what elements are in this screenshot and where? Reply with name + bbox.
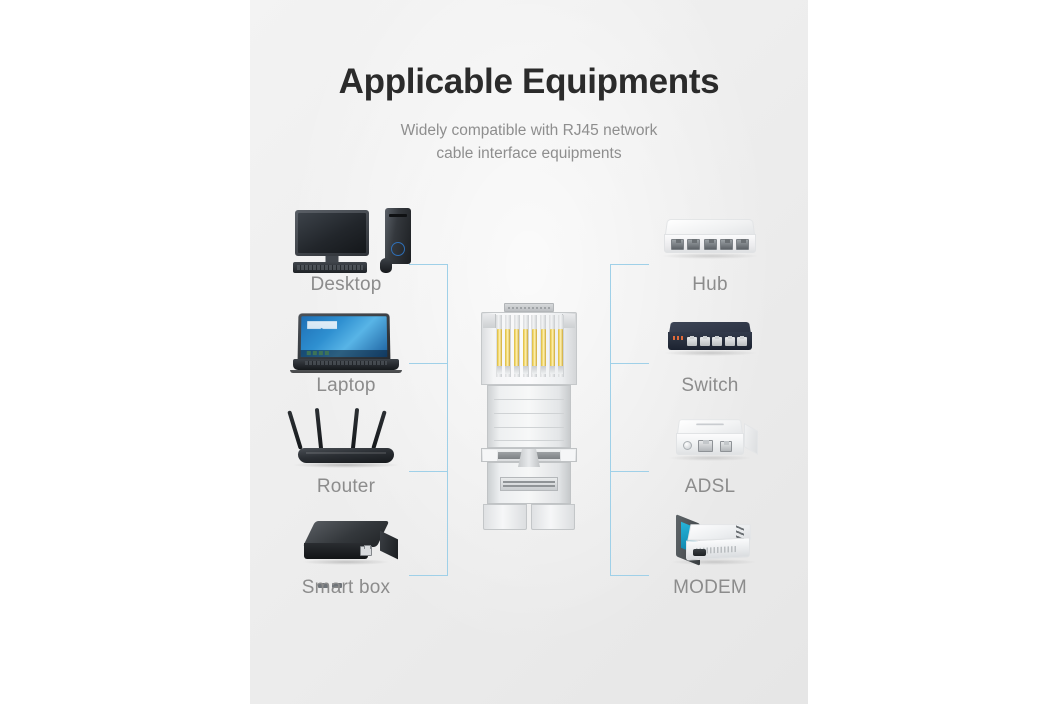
rj45-gold-pin xyxy=(531,315,537,377)
rj45-body-rib xyxy=(494,427,564,428)
rj45-gold-pin xyxy=(496,315,502,377)
monitor-icon xyxy=(295,210,369,256)
desktop-computer-icon xyxy=(261,206,431,274)
switch-front-face xyxy=(668,332,752,350)
hub-ethernet-port xyxy=(704,239,717,250)
wireless-router-icon xyxy=(261,408,431,476)
rj45-base-tabs xyxy=(483,504,575,530)
rj45-gold-pin-bay xyxy=(496,315,564,377)
equipment-item-hub: Hub xyxy=(625,206,795,307)
rj45-body-housing xyxy=(487,385,571,448)
rj45-gold-pin xyxy=(505,315,511,377)
rj45-base-tab xyxy=(483,504,527,530)
rj45-gold-pin xyxy=(523,315,529,377)
smartbox-front xyxy=(304,543,368,559)
router-body xyxy=(298,448,394,463)
rj45-base-tab xyxy=(531,504,575,530)
rj45-gold-pin xyxy=(549,315,555,377)
adsl-top-face xyxy=(677,419,743,434)
modem-connector-plug xyxy=(693,549,706,556)
right-equipment-column: Hub Switch xyxy=(625,206,795,610)
router-antenna xyxy=(371,410,387,449)
hub-ethernet-port xyxy=(671,239,684,250)
equipment-item-router: Router xyxy=(261,408,431,509)
bracket-spine xyxy=(447,264,448,576)
router-shadow xyxy=(292,462,400,468)
hub-ethernet-port xyxy=(736,239,749,250)
equipment-label-desktop: Desktop xyxy=(261,274,431,296)
switch-shadow xyxy=(663,350,757,356)
rj45-gold-pin xyxy=(558,315,564,377)
switch-ethernet-port xyxy=(712,337,722,346)
equipment-label-smart-box: Smart box xyxy=(261,577,431,599)
hub-top-face xyxy=(665,219,755,235)
smartbox-shadow xyxy=(302,559,390,565)
network-switch-icon xyxy=(625,307,795,375)
hub-port-row xyxy=(671,239,749,250)
equipment-item-modem: MODEM xyxy=(625,509,795,610)
subtitle-line-2: cable interface equipments xyxy=(250,142,808,165)
bracket-spine xyxy=(610,264,611,576)
rj45-clip-wing-left xyxy=(483,450,497,461)
hub-ethernet-port xyxy=(720,239,733,250)
router-antenna xyxy=(287,410,303,449)
switch-led-indicators xyxy=(673,336,684,340)
equipment-item-desktop: Desktop xyxy=(261,206,431,307)
rj45-connector-product xyxy=(481,303,577,531)
smart-tv-box-icon xyxy=(261,509,431,577)
equipment-label-hub: Hub xyxy=(625,274,795,296)
smartbox-ethernet-port xyxy=(360,546,372,556)
smartbox-side xyxy=(380,531,398,560)
laptop-lid xyxy=(298,313,391,361)
adsl-brand-mark xyxy=(696,424,724,426)
rj45-body-rib xyxy=(494,399,564,400)
equipment-label-adsl: ADSL xyxy=(625,476,795,498)
equipment-label-switch: Switch xyxy=(625,375,795,397)
rj45-head-housing xyxy=(481,312,577,385)
rj45-strain-relief xyxy=(500,477,558,491)
pc-tower-icon xyxy=(385,208,411,264)
router-antenna xyxy=(315,408,323,450)
equipment-label-router: Router xyxy=(261,476,431,498)
adsl-phone-port xyxy=(720,441,732,452)
network-hub-icon xyxy=(625,206,795,274)
switch-ethernet-port xyxy=(687,337,697,346)
page-subtitle: Widely compatible with RJ45 network cabl… xyxy=(250,119,808,165)
adsl-led-indicator xyxy=(683,441,692,450)
adsl-ethernet-port xyxy=(698,440,713,452)
hub-front-face xyxy=(664,234,756,253)
rj45-body-rib xyxy=(494,440,564,441)
infographic-canvas: Applicable Equipments Widely compatible … xyxy=(0,0,1058,704)
rj45-clip-wing-right xyxy=(561,450,575,461)
keyboard-icon xyxy=(293,262,367,273)
equipment-item-laptop: Laptop xyxy=(261,307,431,408)
subtitle-line-1: Widely compatible with RJ45 network xyxy=(250,119,808,142)
mouse-icon xyxy=(380,258,392,273)
equipment-item-adsl: ADSL xyxy=(625,408,795,509)
equipment-label-laptop: Laptop xyxy=(261,375,431,397)
rj45-shoulder-left xyxy=(483,314,496,328)
laptop-screen xyxy=(301,316,388,357)
rj45-gold-pin xyxy=(540,315,546,377)
router-antenna xyxy=(351,408,359,450)
switch-port-row xyxy=(687,337,747,346)
adsl-side-face xyxy=(744,423,758,455)
switch-ethernet-port xyxy=(725,337,735,346)
equipment-item-smart-box: Smart box xyxy=(261,509,431,610)
rj45-top-tab xyxy=(504,303,554,312)
adsl-modem-icon xyxy=(625,408,795,476)
modem-icon xyxy=(625,509,795,577)
laptop-keyboard-base xyxy=(293,359,399,370)
rj45-gold-pin xyxy=(514,315,520,377)
equipment-label-modem: MODEM xyxy=(625,577,795,599)
hub-shadow xyxy=(660,253,760,259)
adsl-shadow xyxy=(668,455,752,461)
hub-ethernet-port xyxy=(687,239,700,250)
equipment-item-switch: Switch xyxy=(625,307,795,408)
modem-shadow xyxy=(671,559,757,565)
switch-ethernet-port xyxy=(700,337,710,346)
adsl-front-face xyxy=(676,433,744,455)
rj45-body-rib xyxy=(494,413,564,414)
switch-ethernet-port xyxy=(737,337,747,346)
rj45-rear-housing xyxy=(487,462,571,504)
laptop-icon xyxy=(261,307,431,375)
page-title: Applicable Equipments xyxy=(250,62,808,102)
laptop-shadow xyxy=(290,370,402,373)
left-equipment-column: Desktop Laptop Router xyxy=(261,206,431,610)
